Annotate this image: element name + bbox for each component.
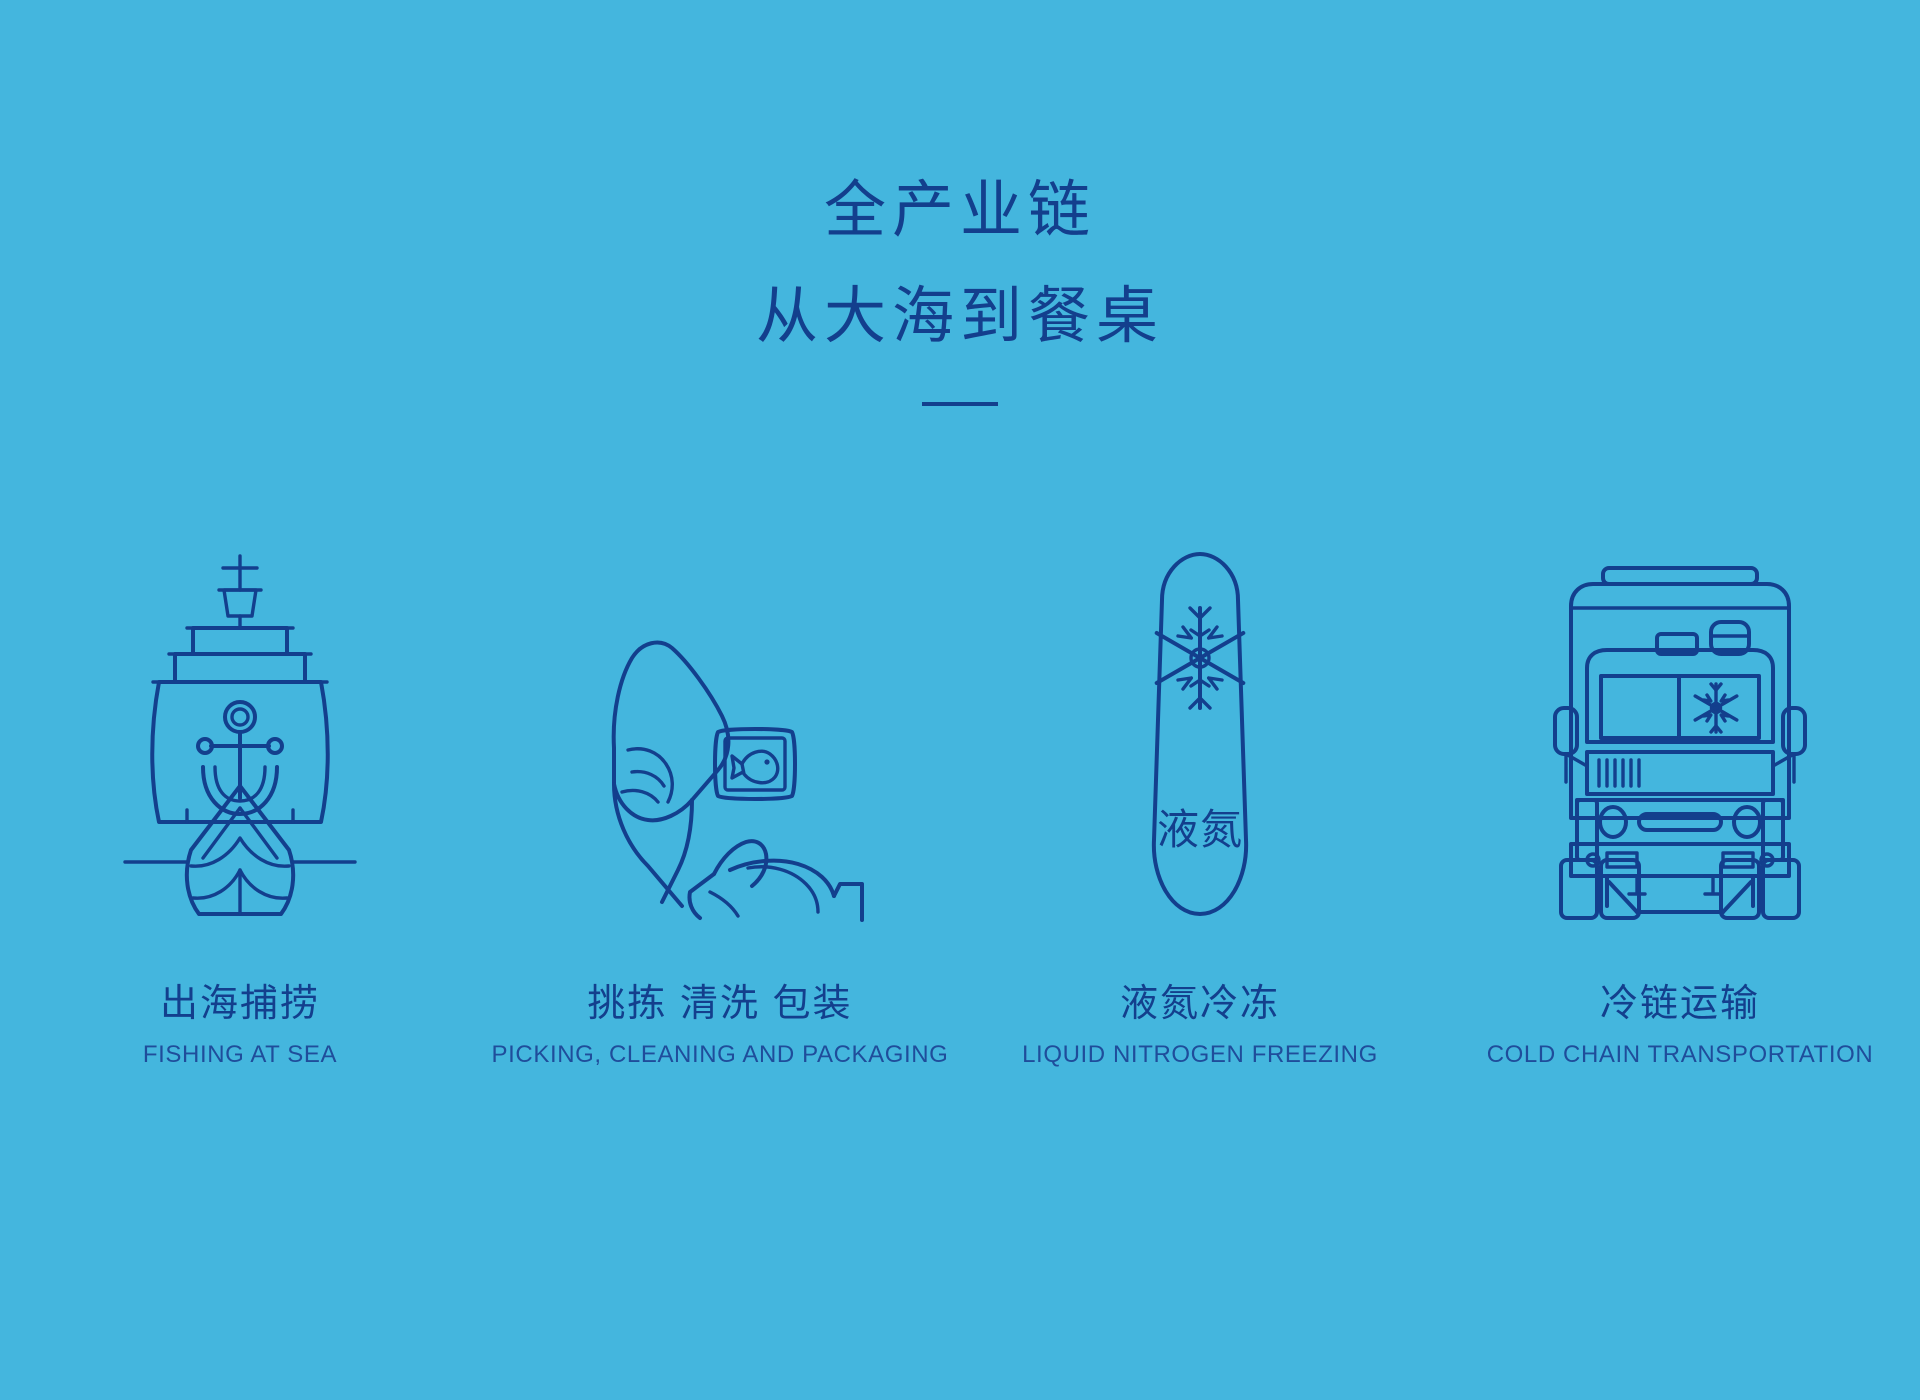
step-cold-chain-transportation: 冷链运输 COLD CHAIN TRANSPORTATION — [1440, 520, 1920, 1160]
step-picking-cleaning-packaging: 挑拣 清洗 包装 PICKING, CLEANING AND PACKAGING — [480, 520, 960, 1160]
snowflake-icon — [1157, 608, 1244, 708]
full-supply-chain-infographic: 全产业链 从大海到餐桌 — [0, 0, 1920, 1400]
step-caption: 冷链运输 COLD CHAIN TRANSPORTATION — [1487, 984, 1874, 1068]
step-title-cn: 冷链运输 — [1487, 984, 1874, 1026]
step-fishing-at-sea: 出海捕捞 FISHING AT SEA — [0, 520, 480, 1160]
process-steps-row: 出海捕捞 FISHING AT SEA — [0, 520, 1920, 1160]
hands-with-packaged-fish-icon — [570, 520, 870, 920]
tank-label: 液氮 — [1157, 806, 1243, 853]
page-title-line-1: 全产业链 — [0, 180, 1920, 242]
step-caption: 液氮冷冻 LIQUID NITROGEN FREEZING — [1022, 984, 1378, 1068]
step-caption: 出海捕捞 FISHING AT SEA — [143, 984, 337, 1068]
page-title-line-2: 从大海到餐桌 — [0, 286, 1920, 348]
snowflake-icon — [1695, 684, 1737, 732]
liquid-nitrogen-tank-icon: 液氮 — [1120, 520, 1280, 920]
heading-block: 全产业链 从大海到餐桌 — [0, 180, 1920, 406]
refrigerated-truck-icon — [1545, 520, 1815, 920]
step-title-en: COLD CHAIN TRANSPORTATION — [1487, 1042, 1874, 1068]
step-title-cn: 挑拣 清洗 包装 — [492, 984, 949, 1026]
step-liquid-nitrogen-freezing: 液氮 液氮冷冻 LIQUID NITROGEN FREEZING — [960, 520, 1440, 1160]
step-title-cn: 出海捕捞 — [143, 984, 337, 1026]
heading-divider — [0, 402, 1920, 406]
step-title-en: FISHING AT SEA — [143, 1042, 337, 1068]
step-caption: 挑拣 清洗 包装 PICKING, CLEANING AND PACKAGING — [492, 984, 949, 1068]
fishing-boat-with-anchor-icon — [125, 520, 355, 920]
step-title-en: PICKING, CLEANING AND PACKAGING — [492, 1042, 949, 1068]
step-title-en: LIQUID NITROGEN FREEZING — [1022, 1042, 1378, 1068]
step-title-cn: 液氮冷冻 — [1022, 984, 1378, 1026]
divider-rule — [922, 402, 998, 406]
